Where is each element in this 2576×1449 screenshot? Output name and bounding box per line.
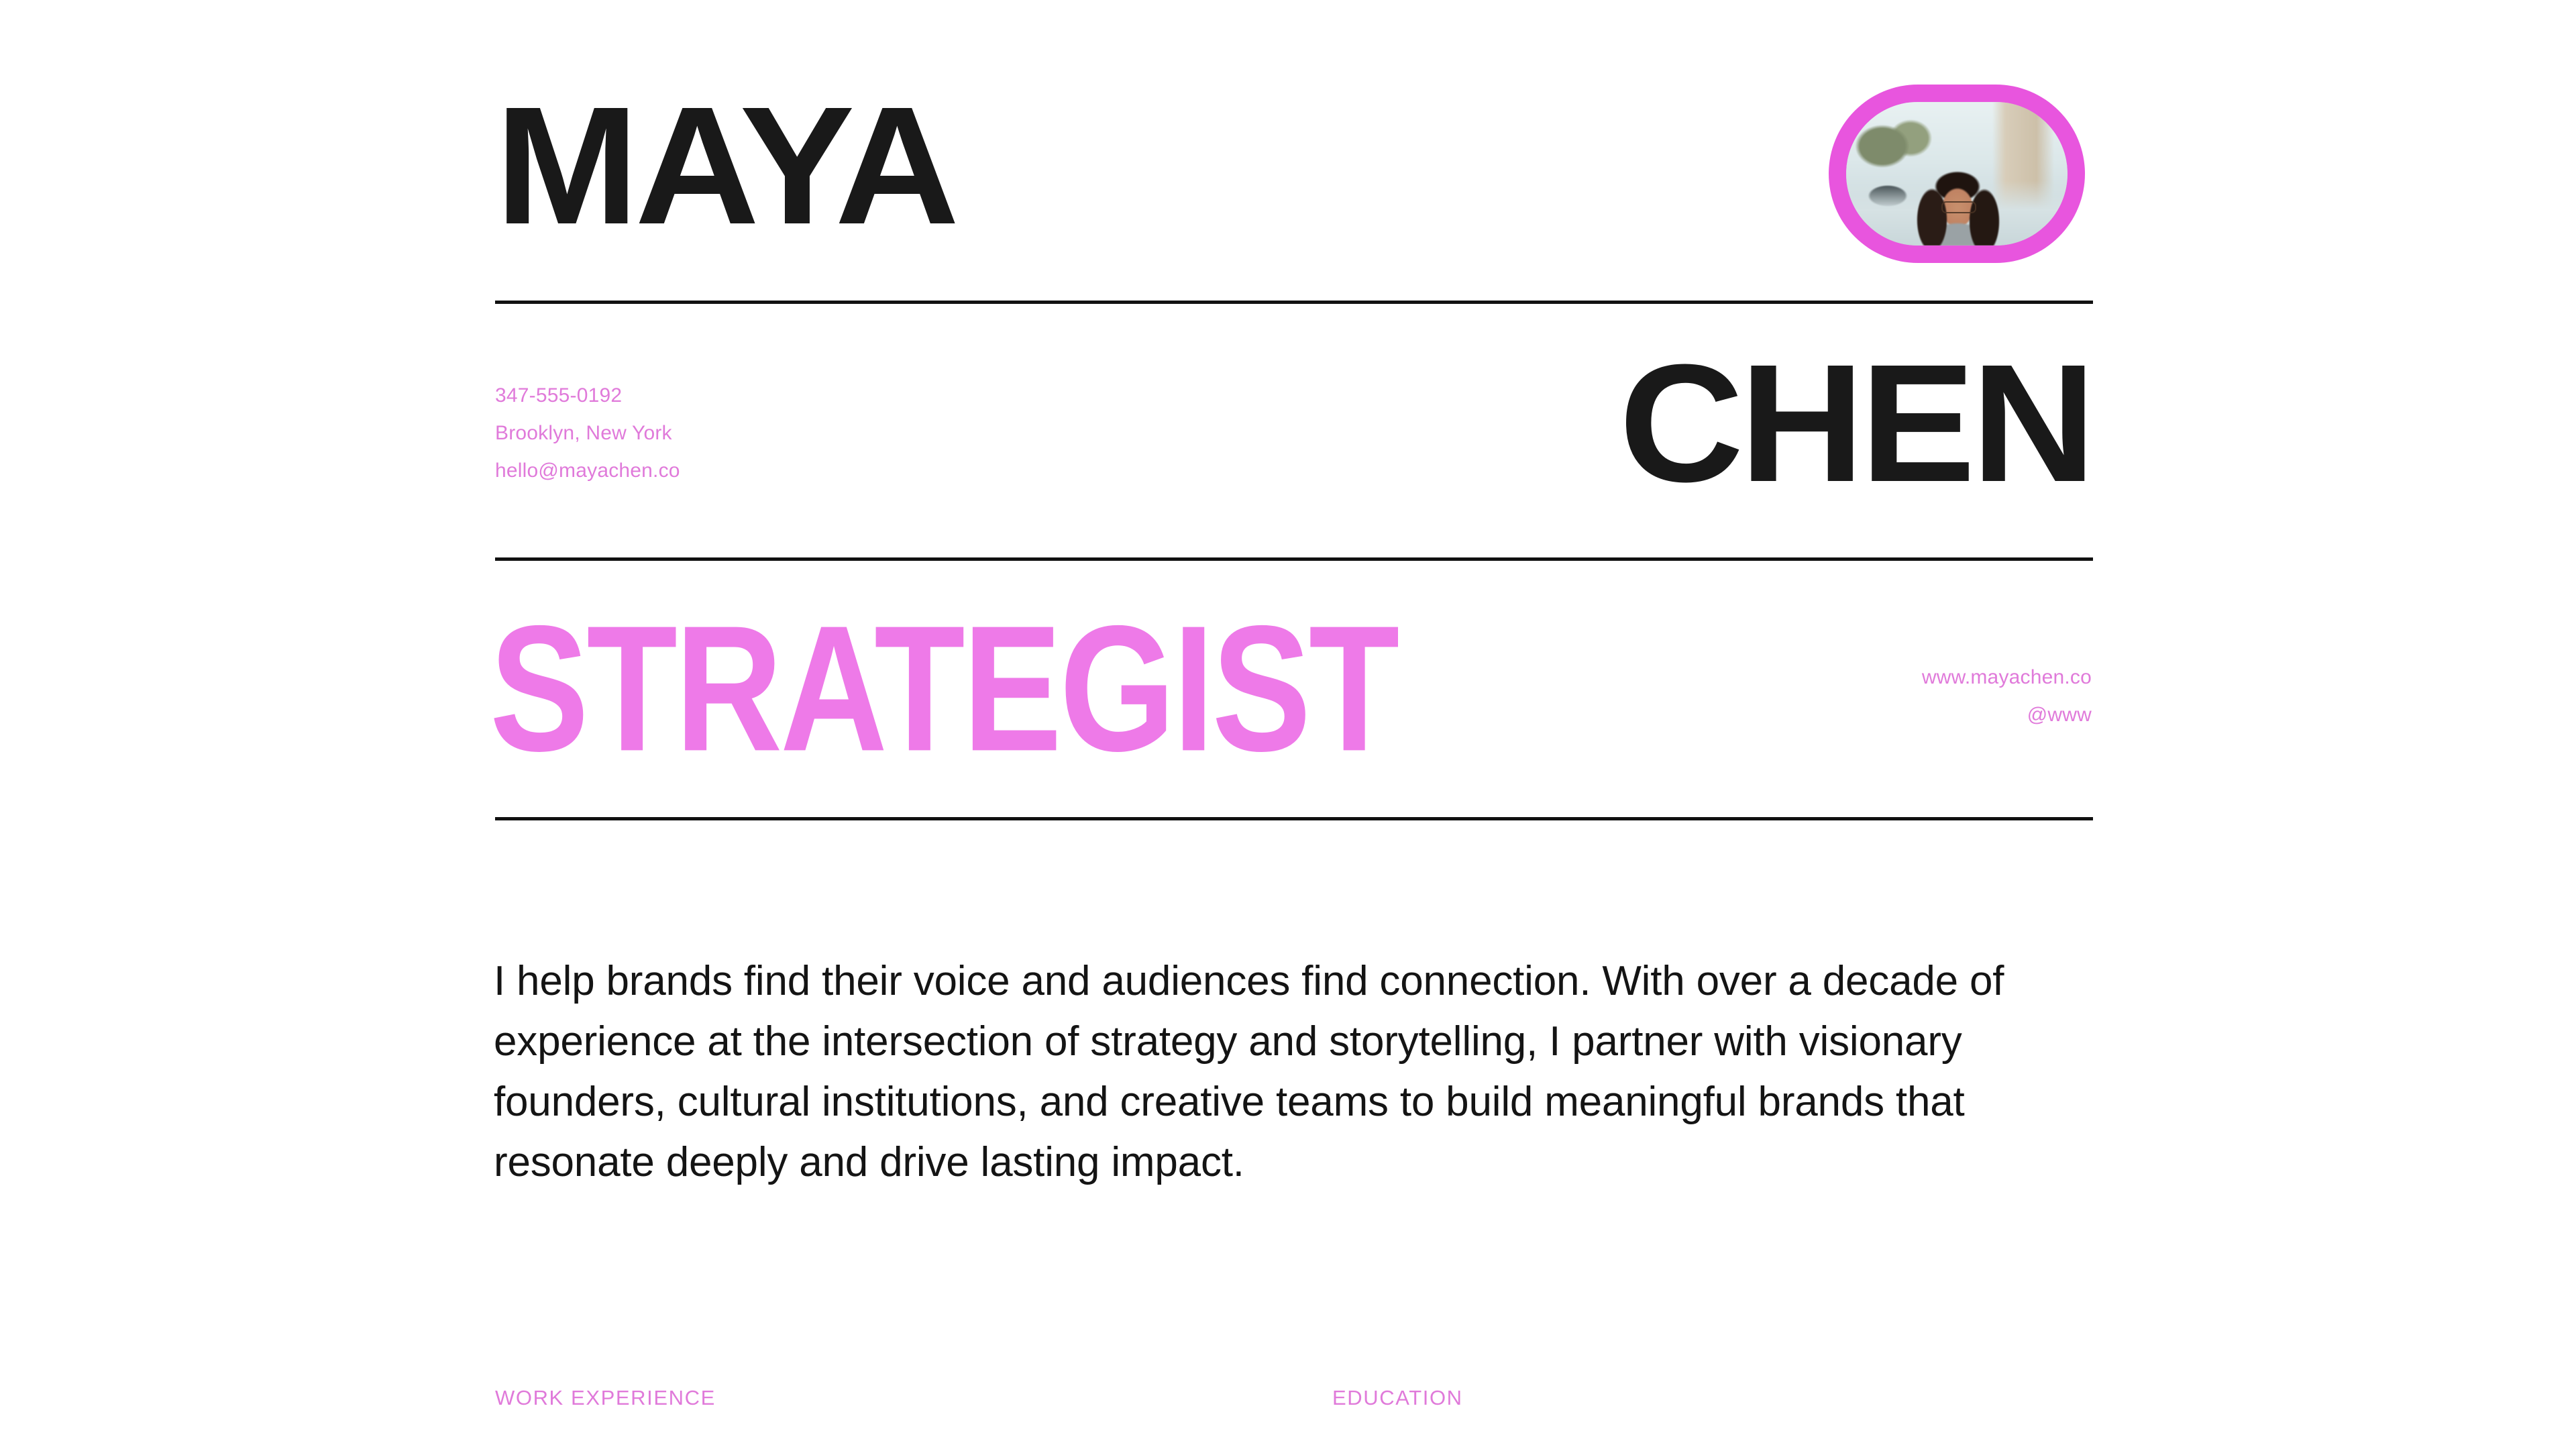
section-label-education: EDUCATION <box>1332 1386 1463 1410</box>
section-label-work-experience: WORK EXPERIENCE <box>495 1386 716 1410</box>
portrait-photo-icon <box>1846 102 2068 246</box>
contact-email[interactable]: hello@mayachen.co <box>495 452 680 490</box>
contact-phone[interactable]: 347-555-0192 <box>495 377 680 415</box>
contact-location: Brooklyn, New York <box>495 415 680 452</box>
divider-top <box>495 301 2093 304</box>
summary-paragraph: I help brands find their voice and audie… <box>494 951 2097 1193</box>
social-handle[interactable]: @www <box>1922 696 2092 734</box>
avatar <box>1829 85 2085 263</box>
avatar-image-frame <box>1846 102 2068 246</box>
resume-page: MAYA 347-555-0192 Brooklyn, New York hel… <box>0 0 2576 1449</box>
page-title: MAYA <box>495 86 955 246</box>
website-link[interactable]: www.mayachen.co <box>1922 659 2092 696</box>
glasses-icon <box>1941 201 1976 213</box>
page-title-last-name: CHEN <box>1619 343 2092 503</box>
divider-middle <box>495 557 2093 561</box>
role-title: STRATEGIST <box>490 604 1397 774</box>
divider-bottom <box>495 817 2093 820</box>
web-links-block: www.mayachen.co @www <box>1922 659 2092 734</box>
contact-block: 347-555-0192 Brooklyn, New York hello@ma… <box>495 377 680 490</box>
